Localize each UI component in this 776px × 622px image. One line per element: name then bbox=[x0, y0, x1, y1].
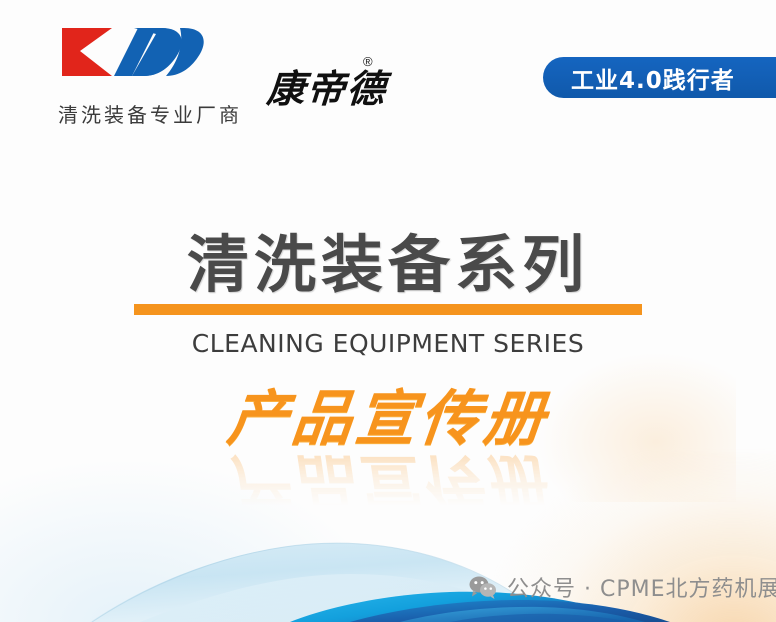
wechat-account-label: 公众号 · CPME北方药机展 bbox=[507, 571, 776, 603]
brochure-headline: 产品宣传册 bbox=[225, 389, 551, 449]
industry-badge: 工业4.0践行者 bbox=[543, 57, 776, 98]
wechat-footer: 公众号 · CPME北方药机展 bbox=[468, 571, 776, 603]
kadd-logo-mark bbox=[60, 26, 208, 78]
bottom-wave-decoration bbox=[0, 502, 776, 622]
logo-block: 康帝德 ® bbox=[60, 26, 208, 78]
brochure-cover-page: 康帝德 ® 清洗装备专业厂商 工业4.0践行者 清洗装备系列 CLEANING … bbox=[0, 0, 776, 622]
wechat-icon bbox=[468, 575, 498, 600]
registered-mark-icon: ® bbox=[363, 54, 373, 69]
header: 康帝德 ® 清洗装备专业厂商 工业4.0践行者 bbox=[0, 0, 776, 150]
page-title: 清洗装备系列 bbox=[0, 232, 776, 297]
industry-badge-label: 工业4.0践行者 bbox=[571, 61, 735, 95]
company-tagline: 清洗装备专业厂商 bbox=[58, 99, 242, 128]
title-underline-rule bbox=[134, 304, 642, 315]
page-subtitle: CLEANING EQUIPMENT SERIES bbox=[0, 329, 776, 358]
title-block: 清洗装备系列 CLEANING EQUIPMENT SERIES bbox=[0, 232, 776, 358]
